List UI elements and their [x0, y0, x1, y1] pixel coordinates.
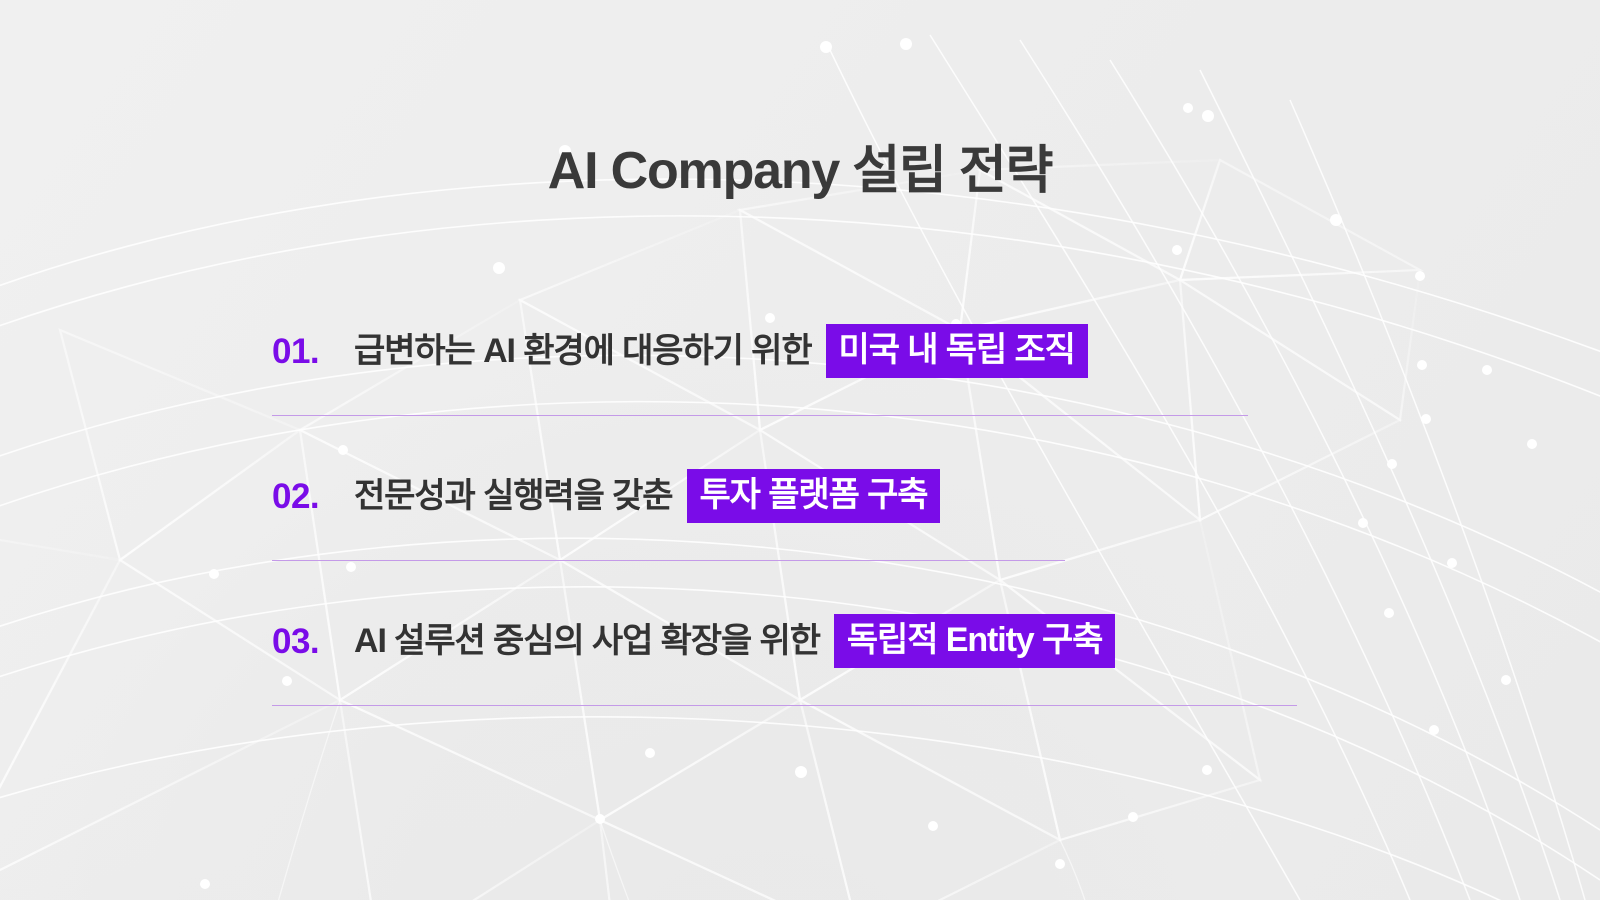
list-item-divider	[272, 705, 1297, 707]
list-item: 03. AI 설루션 중심의 사업 확장을 위한 독립적 Entity 구축	[272, 602, 1392, 747]
list-item-number: 02.	[272, 479, 354, 514]
page-title: AI Company 설립 전략	[0, 128, 1600, 203]
strategy-list: 01. 급변하는 AI 환경에 대응하기 위한 미국 내 독립 조직 02. 전…	[272, 312, 1392, 747]
list-item-divider	[272, 415, 1248, 417]
list-item-lead-text: 전문성과 실행력을 갖춘	[354, 479, 687, 513]
list-item-highlight-badge: 미국 내 독립 조직	[826, 324, 1088, 378]
list-item-lead-text: 급변하는 AI 환경에 대응하기 위한	[354, 334, 826, 368]
list-item-number: 03.	[272, 624, 354, 659]
list-item-highlight-badge: 독립적 Entity 구축	[834, 614, 1115, 668]
list-item-divider	[272, 560, 1065, 562]
list-item-text: 급변하는 AI 환경에 대응하기 위한 미국 내 독립 조직	[354, 324, 1088, 378]
list-item-text: AI 설루션 중심의 사업 확장을 위한 독립적 Entity 구축	[354, 614, 1115, 668]
list-item: 01. 급변하는 AI 환경에 대응하기 위한 미국 내 독립 조직	[272, 312, 1392, 457]
list-item: 02. 전문성과 실행력을 갖춘 투자 플랫폼 구축	[272, 457, 1392, 602]
slide-canvas: AI Company 설립 전략 01. 급변하는 AI 환경에 대응하기 위한…	[0, 0, 1600, 900]
list-item-text: 전문성과 실행력을 갖춘 투자 플랫폼 구축	[354, 469, 940, 523]
list-item-number: 01.	[272, 334, 354, 369]
list-item-lead-text: AI 설루션 중심의 사업 확장을 위한	[354, 624, 834, 658]
list-item-highlight-badge: 투자 플랫폼 구축	[687, 469, 941, 523]
